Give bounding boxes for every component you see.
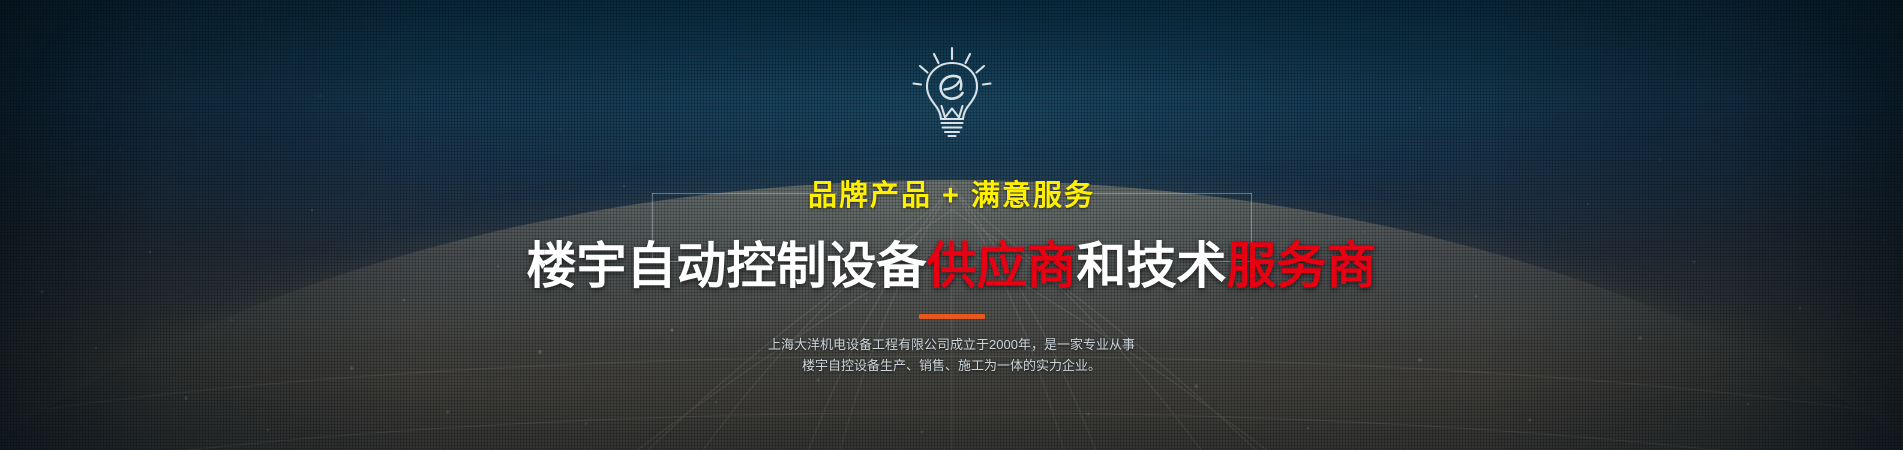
description-line-2: 楼宇自控设备生产、销售、施工为一体的实力企业。 bbox=[642, 355, 1262, 376]
orange-divider bbox=[919, 314, 985, 319]
banner-headline: 楼宇自动控制设备供应商和技术服务商 bbox=[517, 226, 1387, 298]
lightbulb-e-icon bbox=[904, 44, 1000, 140]
headline-accent-2: 服务商 bbox=[1227, 238, 1377, 294]
banner-tagline: 品牌产品 + 满意服务 bbox=[794, 172, 1109, 214]
banner-content: 品牌产品 + 满意服务 楼宇自动控制设备供应商和技术服务商 上海大洋机电设备工程… bbox=[0, 0, 1903, 450]
headline-accent-1: 供应商 bbox=[927, 238, 1077, 294]
hero-banner: 品牌产品 + 满意服务 楼宇自动控制设备供应商和技术服务商 上海大洋机电设备工程… bbox=[0, 0, 1903, 450]
description-line-1: 上海大洋机电设备工程有限公司成立于2000年，是一家专业从事 bbox=[642, 334, 1262, 355]
headline-part-1: 楼宇自动控制设备 bbox=[527, 238, 927, 294]
headline-part-2: 和技术 bbox=[1077, 238, 1227, 294]
banner-description: 上海大洋机电设备工程有限公司成立于2000年，是一家专业从事 楼宇自控设备生产、… bbox=[642, 334, 1262, 376]
